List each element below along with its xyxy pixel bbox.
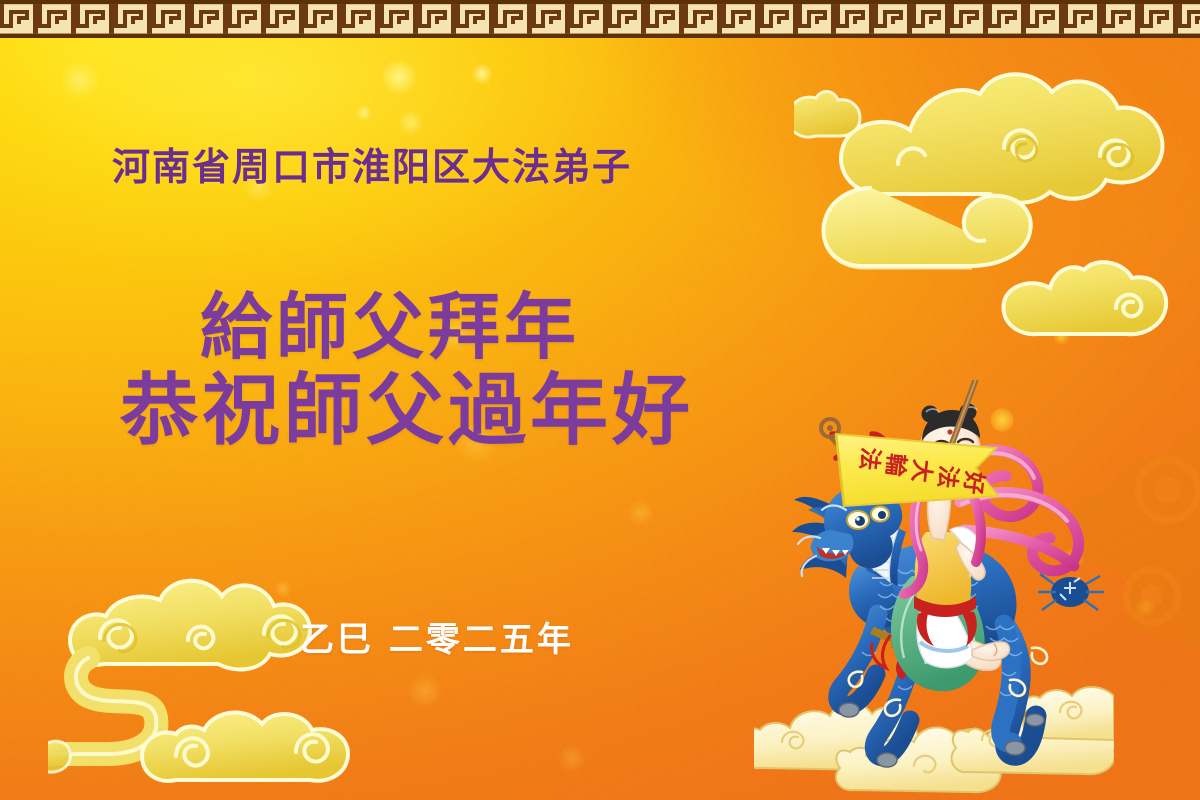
meander-border-icon	[0, 0, 1200, 38]
page-title: 河南省周口市淮阳区大法弟子	[112, 136, 632, 191]
new-year-greeting-card: 法輪大法好	[0, 0, 1200, 800]
greeting-line-2: 恭祝師父過年好	[120, 348, 694, 460]
date-label: 乙巳 二零二五年	[300, 612, 574, 661]
